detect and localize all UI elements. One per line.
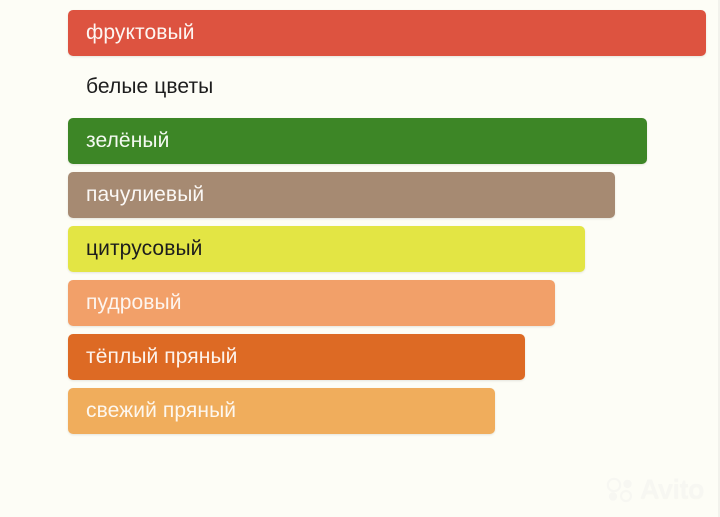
bar-chart: фруктовыйбелые цветызелёныйпачулиевыйцит… [0,0,720,517]
bar-row[interactable]: зелёный [0,118,720,172]
bar-row[interactable]: цитрусовый [0,226,720,280]
bar-rect[interactable] [68,388,495,434]
avito-watermark: Avito [606,476,704,503]
bar-row[interactable]: белые цветы [0,64,720,118]
bar-rect[interactable] [68,118,647,164]
bar-list: фруктовыйбелые цветызелёныйпачулиевыйцит… [0,10,720,442]
bar-rect[interactable] [68,10,706,56]
bar-rect[interactable] [68,172,615,218]
bar-rect[interactable] [68,280,555,326]
bar-row[interactable]: свежий пряный [0,388,720,442]
bar-label: белые цветы [86,64,213,110]
avito-dots-icon [606,477,636,503]
bar-row[interactable]: фруктовый [0,10,720,64]
bar-rect[interactable] [68,226,585,272]
bar-row[interactable]: тёплый пряный [0,334,720,388]
bar-row[interactable]: пудровый [0,280,720,334]
avito-wordmark: Avito [640,476,704,503]
bar-rect[interactable] [68,334,525,380]
bar-row[interactable]: пачулиевый [0,172,720,226]
